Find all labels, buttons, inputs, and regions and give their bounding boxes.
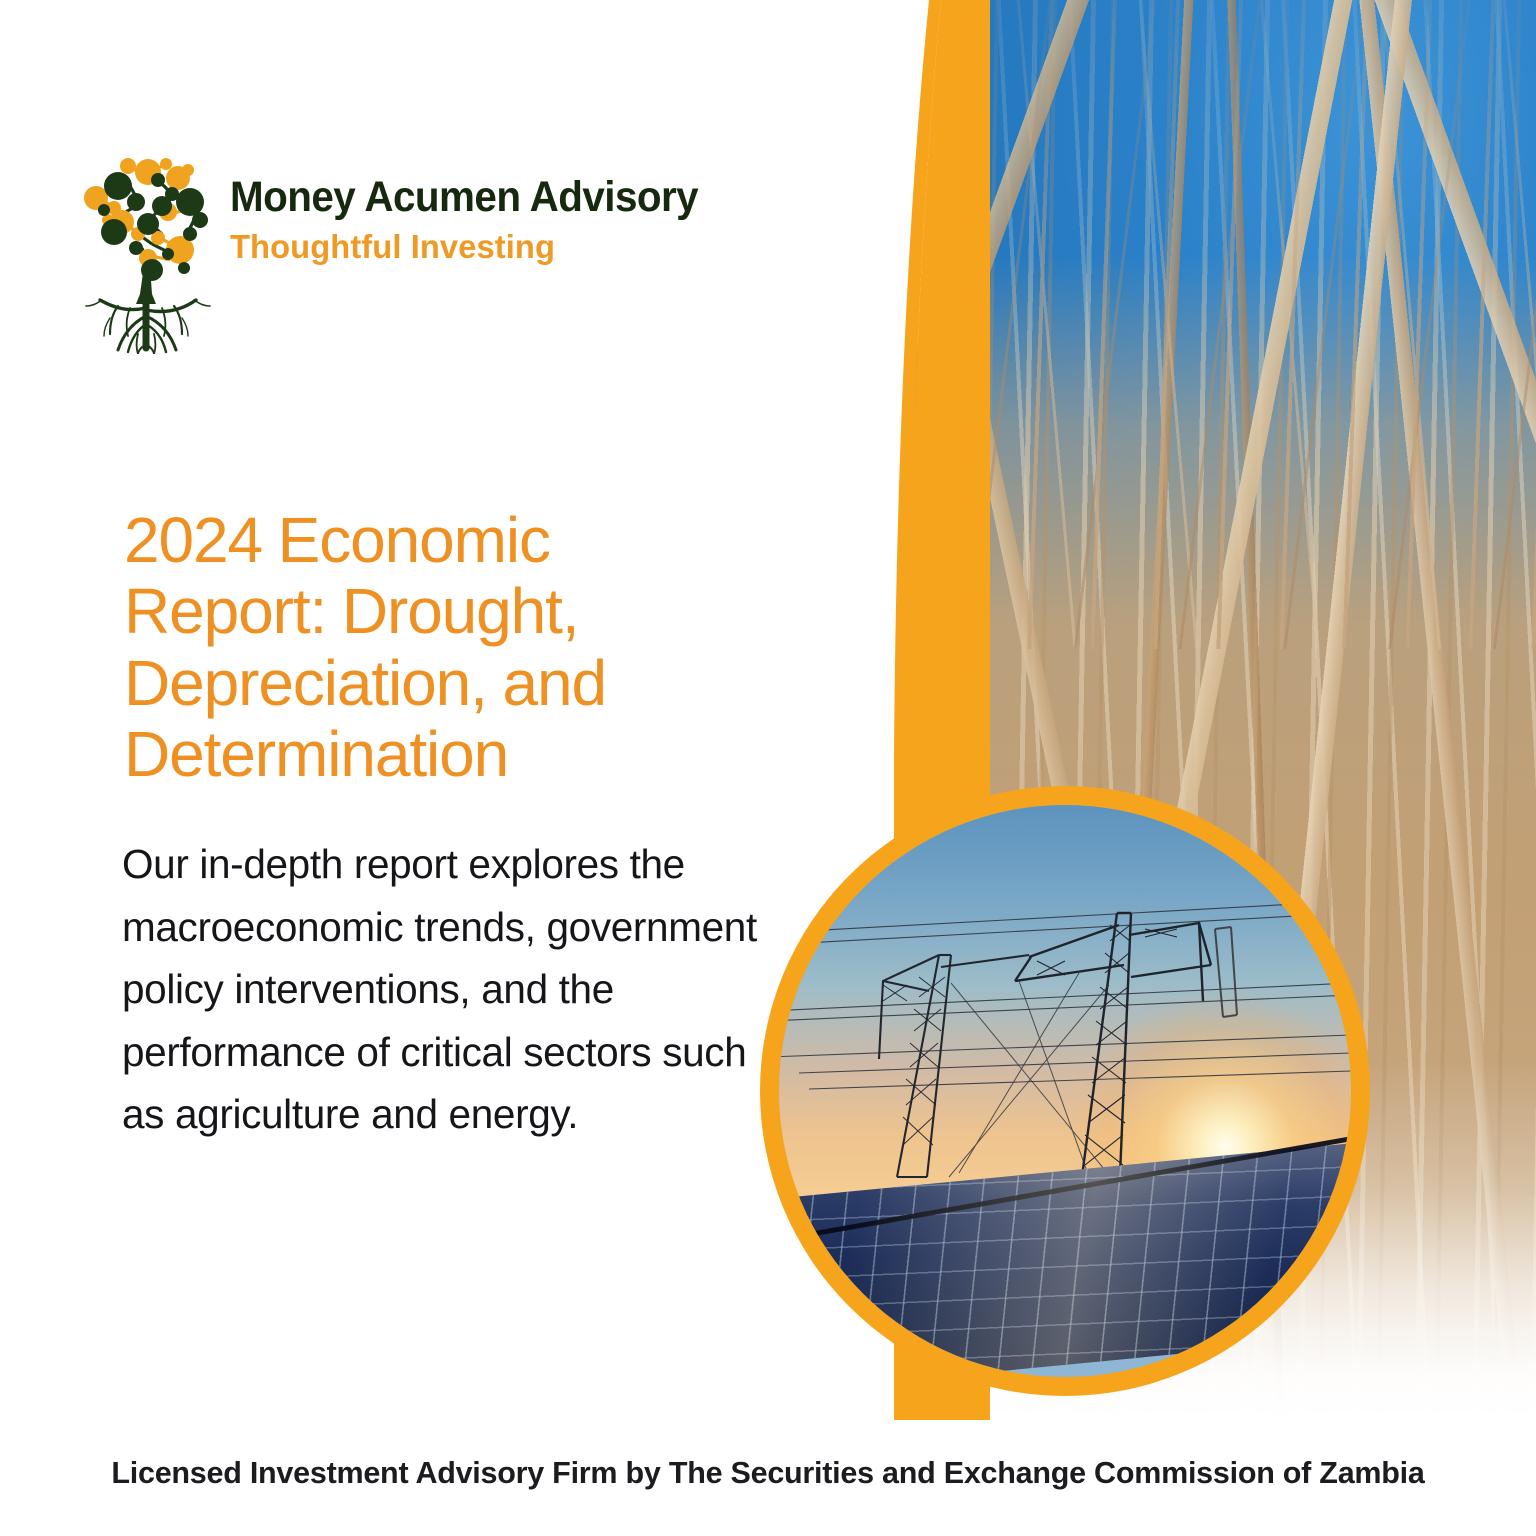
molecular-tree-with-roots-logo-icon bbox=[78, 148, 214, 354]
brand-name: Money Acumen Advisory bbox=[230, 176, 698, 220]
brand-tagline: Thoughtful Investing bbox=[230, 229, 723, 265]
energy-photo-circle-inset bbox=[760, 786, 1370, 1396]
brand-logo-block: Money Acumen Advisory Thoughtful Investi… bbox=[78, 148, 728, 354]
circle-photo-clip bbox=[779, 805, 1351, 1377]
license-disclaimer: Licensed Investment Advisory Firm by The… bbox=[0, 1456, 1536, 1491]
corn-tassels-layer bbox=[900, 0, 1536, 649]
report-description: Our in-depth report explores the macroec… bbox=[122, 833, 762, 1146]
report-cover-poster: Money Acumen Advisory Thoughtful Investi… bbox=[0, 0, 1536, 1536]
page-title: 2024 Economic Report: Drought, Depreciat… bbox=[124, 505, 764, 790]
brand-wordmark: Money Acumen Advisory Thoughtful Investi… bbox=[230, 148, 728, 265]
